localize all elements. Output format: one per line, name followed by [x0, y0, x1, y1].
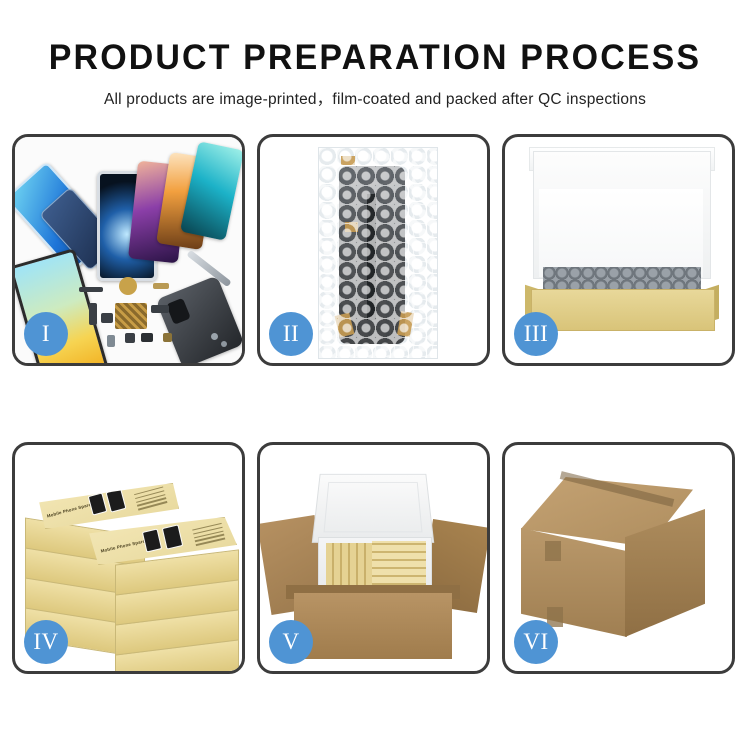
foam-lid-icon: [312, 474, 434, 543]
step-badge: III: [514, 312, 558, 356]
step-badge: V: [269, 620, 313, 664]
phone-housing-icon: [156, 275, 242, 363]
header: PRODUCT PREPARATION PROCESS All products…: [0, 0, 750, 109]
printed-lid-top: Mobile Phone Spare Parts: [27, 483, 179, 529]
antenna-part-icon: [89, 303, 97, 325]
single-box-panel: III: [502, 134, 735, 366]
page-subtitle: All products are image-printed，film-coat…: [0, 87, 750, 109]
phone-parts-panel: I: [12, 134, 245, 366]
logic-board-icon: [115, 303, 147, 329]
box-spec-lines: [134, 486, 168, 512]
box-screen-print-icon: [88, 492, 108, 515]
bubble-texture: [319, 148, 437, 358]
packed-boxes-stack-icon: [372, 541, 426, 591]
step-badge: IV: [24, 620, 68, 664]
camera-part-icon: [101, 313, 113, 323]
stacked-boxes-illustration: Mobile Phone Spare Parts Mobile Phone Sp…: [15, 445, 242, 671]
ribbon-part-icon: [151, 305, 169, 313]
stacked-boxes-panel: Mobile Phone Spare Parts Mobile Phone Sp…: [12, 442, 245, 674]
step-badge: VI: [514, 620, 558, 664]
screw-part-icon: [163, 333, 172, 342]
bubble-wrap-illustration: II: [260, 137, 487, 363]
carton-front-icon: [294, 593, 452, 659]
step-badge: I: [24, 312, 68, 356]
carton-tape-upper-icon: [545, 541, 561, 561]
foam-carton-panel: V: [257, 442, 490, 674]
single-box-illustration: III: [505, 137, 732, 363]
process-grid: I II III: [12, 134, 738, 674]
box-screen-print-icon: [142, 528, 162, 552]
sealed-carton-panel: VI: [502, 442, 735, 674]
box-base-icon: [531, 289, 715, 331]
page-title: PRODUCT PREPARATION PROCESS: [11, 40, 739, 77]
vibrator-part-icon: [141, 333, 153, 342]
box-screen-print-icon: [162, 524, 184, 549]
speaker-part-icon: [119, 277, 137, 295]
flex-cable-icon: [79, 287, 103, 292]
phone-parts-illustration: I: [15, 137, 242, 363]
washer-part-icon: [211, 333, 218, 340]
box-screen-print-icon: [106, 488, 127, 512]
pin-part-icon: [221, 341, 227, 347]
foam-sheet-icon: [539, 189, 703, 277]
connector-icon: [153, 283, 169, 289]
bubble-wrap-panel: II: [257, 134, 490, 366]
foam-carton-illustration: V: [260, 445, 487, 671]
sealed-carton-illustration: VI: [505, 445, 732, 671]
button-part-icon: [125, 333, 135, 343]
sim-tray-icon: [107, 335, 115, 347]
bubble-bag-icon: [318, 147, 438, 359]
box-spec-lines: [192, 523, 225, 548]
step-badge: II: [269, 312, 313, 356]
